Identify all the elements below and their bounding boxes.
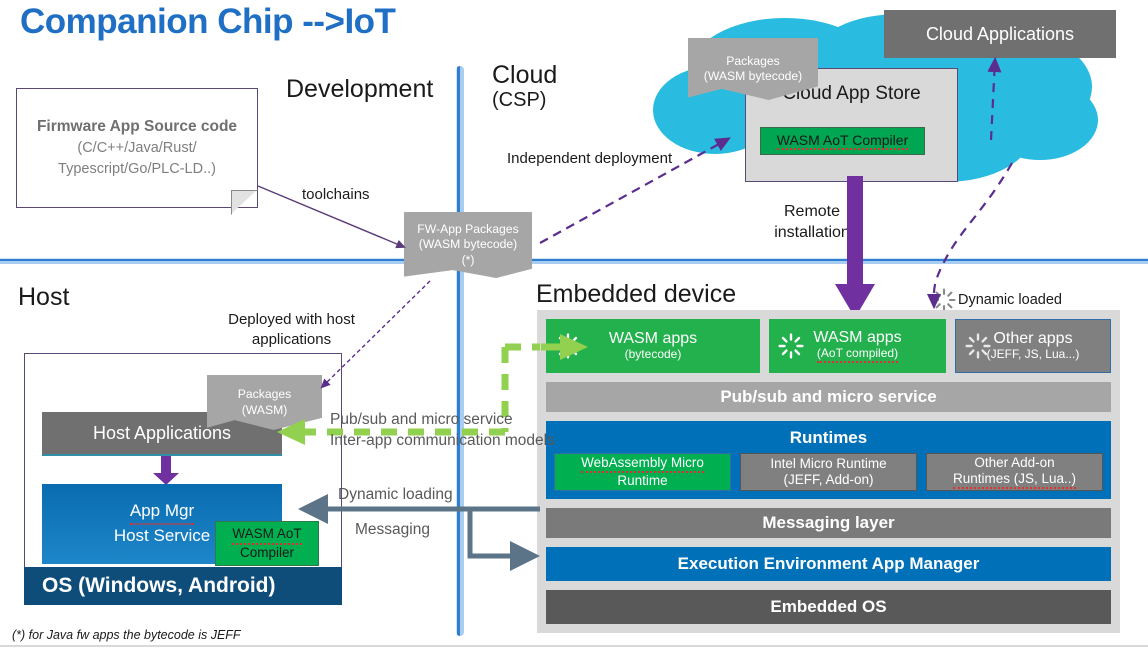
callout-cloud-packages-line1: Packages: [726, 54, 780, 69]
runtime-intel-micro: Intel Micro Runtime (JEFF, Add-on): [740, 453, 917, 491]
section-heading-host: Host: [18, 283, 69, 312]
firmware-source-box: Firmware App Source code (C/C++/Java/Rus…: [16, 88, 258, 208]
cloud-wasm-aot-compiler: WASM AoT Compiler: [760, 127, 925, 155]
cloud-wasm-aot-compiler-label: WASM AoT Compiler: [777, 132, 908, 150]
remote-installation-arrow: [835, 176, 875, 321]
spinner-icon: [555, 333, 581, 359]
callout-cloud-packages: Packages (WASM bytecode): [688, 38, 818, 100]
section-heading-cloud-label: Cloud: [492, 61, 557, 89]
runtime-line2: Runtimes (JS, Lua..): [953, 471, 1076, 489]
app-box-name: Other apps: [993, 330, 1072, 348]
host-aot-line1: WASM AoT: [232, 526, 301, 545]
callout-host-packages-line1: Packages: [238, 387, 292, 402]
callout-fw-app-packages: FW-App Packages (WASM bytecode) (*): [404, 212, 532, 278]
section-heading-cloud-sub: (CSP): [492, 90, 557, 111]
app-box-name: WASM apps: [813, 329, 901, 347]
firmware-source-line2: (C/C++/Java/Rust/: [77, 138, 196, 159]
horizontal-divider: [0, 258, 1148, 264]
label-deployed-line1: Deployed with host: [219, 310, 364, 330]
runtime-line2: (JEFF, Add-on): [783, 472, 873, 488]
embedded-device-panel: WASM apps (bytecode) WASM apps (AoT comp…: [537, 310, 1120, 633]
callout-cloud-packages-line2: (WASM bytecode): [704, 69, 802, 84]
firmware-source-title: Firmware App Source code: [37, 116, 237, 138]
label-dynamic-loading: Dynamic loading: [338, 486, 453, 504]
app-manager-line1: App Mgr: [130, 500, 194, 525]
app-box-detail: (bytecode): [625, 348, 682, 362]
callout-fw-app-packages-line3: (*): [462, 253, 475, 268]
callout-fw-app-packages-line2: (WASM bytecode): [419, 237, 517, 252]
label-pubsub-line1: Pub/sub and micro service: [330, 410, 555, 431]
label-independent-deployment: Independent deployment: [507, 150, 672, 167]
runtime-line1: Other Add-on: [974, 455, 1054, 471]
section-heading-development: Development: [286, 75, 433, 104]
cloud-applications-box: Cloud Applications: [884, 10, 1116, 58]
app-box-wasm-aot: WASM apps (AoT compiled): [769, 319, 946, 373]
callout-fw-app-packages-line1: FW-App Packages: [417, 222, 518, 237]
bottom-divider: [0, 645, 1148, 647]
page-title: Companion Chip -->IoT: [20, 2, 395, 42]
label-messaging: Messaging: [355, 521, 430, 539]
app-box-name: WASM apps: [609, 330, 697, 348]
spinner-icon: [965, 333, 991, 359]
vertical-divider: [456, 66, 464, 636]
spinner-icon: [778, 333, 804, 359]
app-box-detail: (AoT compiled): [817, 347, 898, 363]
app-manager-line2: Host Service: [114, 525, 210, 548]
section-heading-embedded: Embedded device: [536, 280, 736, 309]
host-os-box: OS (Windows, Android): [24, 567, 342, 605]
runtime-line1: Intel Micro Runtime: [770, 456, 886, 472]
firmware-source-line3: Typescript/Go/PLC-LD..): [58, 159, 216, 180]
label-pubsub-line2: Inter-app communication models: [330, 431, 555, 452]
band-execution-env-app-manager: Execution Environment App Manager: [546, 547, 1111, 581]
callout-host-packages-line2: (WASM): [242, 403, 288, 418]
band-embedded-os: Embedded OS: [546, 590, 1111, 624]
footnote: (*) for Java fw apps the bytecode is JEF…: [12, 628, 241, 642]
app-box-wasm-bytecode: WASM apps (bytecode): [546, 319, 760, 373]
band-pubsub-micro-service: Pub/sub and micro service: [546, 382, 1111, 412]
runtimes-block: Runtimes WebAssembly Micro Runtime Intel…: [546, 421, 1111, 499]
band-messaging-layer: Messaging layer: [546, 508, 1111, 538]
label-toolchains: toolchains: [302, 186, 370, 203]
runtime-webassembly-micro: WebAssembly Micro Runtime: [554, 453, 731, 491]
spinner-icon: [932, 288, 956, 312]
runtime-line1: WebAssembly Micro: [581, 455, 704, 473]
dynamic-loaded-legend-label: Dynamic loaded: [958, 292, 1062, 308]
host-aot-line2: Compiler: [240, 545, 294, 562]
host-wasm-aot-compiler: WASM AoT Compiler: [215, 521, 319, 566]
callout-host-packages: Packages (WASM): [207, 375, 322, 430]
runtimes-row: WebAssembly Micro Runtime Intel Micro Ru…: [554, 453, 1103, 491]
embedded-apps-row: WASM apps (bytecode) WASM apps (AoT comp…: [546, 319, 1111, 373]
app-box-other-apps: Other apps (JEFF, JS, Lua...): [955, 319, 1111, 373]
section-heading-cloud: Cloud (CSP): [492, 61, 557, 111]
diagram-canvas: Companion Chip -->IoT Development Cloud …: [0, 0, 1148, 653]
label-deployed-line2: applications: [219, 330, 364, 350]
label-deployed-with-host: Deployed with host applications: [219, 310, 364, 349]
label-pubsub-interapp: Pub/sub and micro service Inter-app comm…: [330, 410, 555, 452]
app-box-detail: (JEFF, JS, Lua...): [987, 348, 1080, 362]
arrow-messaging: [470, 509, 533, 556]
runtime-line2: Runtime: [617, 473, 667, 489]
runtime-other-addon: Other Add-on Runtimes (JS, Lua..): [926, 453, 1103, 491]
runtimes-title: Runtimes: [554, 428, 1103, 448]
host-internal-arrow: [153, 456, 179, 486]
